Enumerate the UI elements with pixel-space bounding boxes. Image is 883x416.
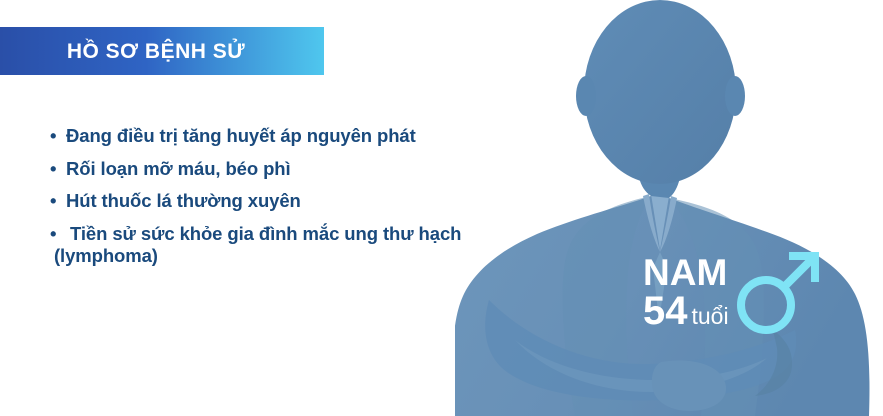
bullet-icon: •: [50, 192, 56, 211]
patient-age-row: 54 tuổi: [643, 292, 729, 330]
list-item: • Rối loạn mỡ máu, béo phì: [50, 160, 520, 179]
list-item: • Hút thuốc lá thường xuyên: [50, 192, 520, 211]
ear-left: [576, 76, 596, 116]
list-item-text: Hút thuốc lá thường xuyên: [66, 190, 301, 211]
medical-history-slide: HỒ SƠ BỆNH SỬ • Đang điều trị tăng huyết…: [0, 0, 883, 416]
head: [584, 0, 736, 184]
bullet-icon: •: [50, 127, 56, 146]
patient-gender-label: NAM: [643, 255, 729, 290]
patient-age-unit: tuổi: [692, 305, 729, 328]
list-item-text: Tiền sử sức khỏe gia đình mắc ung thư hạ…: [70, 223, 461, 244]
jacket-left-lapel: [563, 196, 651, 416]
shirt-collar-right: [660, 196, 677, 252]
hand-fist: [652, 361, 726, 411]
patient-demographics-badge: NAM 54 tuổi: [643, 255, 823, 337]
page-title: HỒ SƠ BỆNH SỬ: [67, 41, 245, 62]
list-item: • Tiền sử sức khỏe gia đình mắc ung thư …: [50, 225, 520, 266]
male-mars-icon: [731, 245, 823, 337]
bullet-icon: •: [50, 225, 56, 244]
forearm-highlight: [515, 340, 767, 392]
patient-age-number: 54: [643, 292, 688, 330]
neck: [636, 146, 683, 198]
list-item-text: Rối loạn mỡ máu, béo phì: [66, 158, 291, 179]
sleeve-cuff: [755, 330, 792, 396]
section-title-banner: HỒ SƠ BỆNH SỬ: [0, 27, 324, 75]
patient-demographics-text: NAM 54 tuổi: [643, 255, 729, 330]
list-item-text-continued: (lymphoma): [54, 247, 520, 266]
medical-history-list: • Đang điều trị tăng huyết áp nguyên phá…: [50, 127, 520, 266]
bullet-icon: •: [50, 160, 56, 179]
list-item-text: Đang điều trị tăng huyết áp nguyên phát: [66, 125, 416, 146]
shirt-collar: [651, 190, 669, 250]
ear-right: [725, 76, 745, 116]
list-item: • Đang điều trị tăng huyết áp nguyên phá…: [50, 127, 520, 146]
shirt-collar-left: [643, 194, 660, 252]
